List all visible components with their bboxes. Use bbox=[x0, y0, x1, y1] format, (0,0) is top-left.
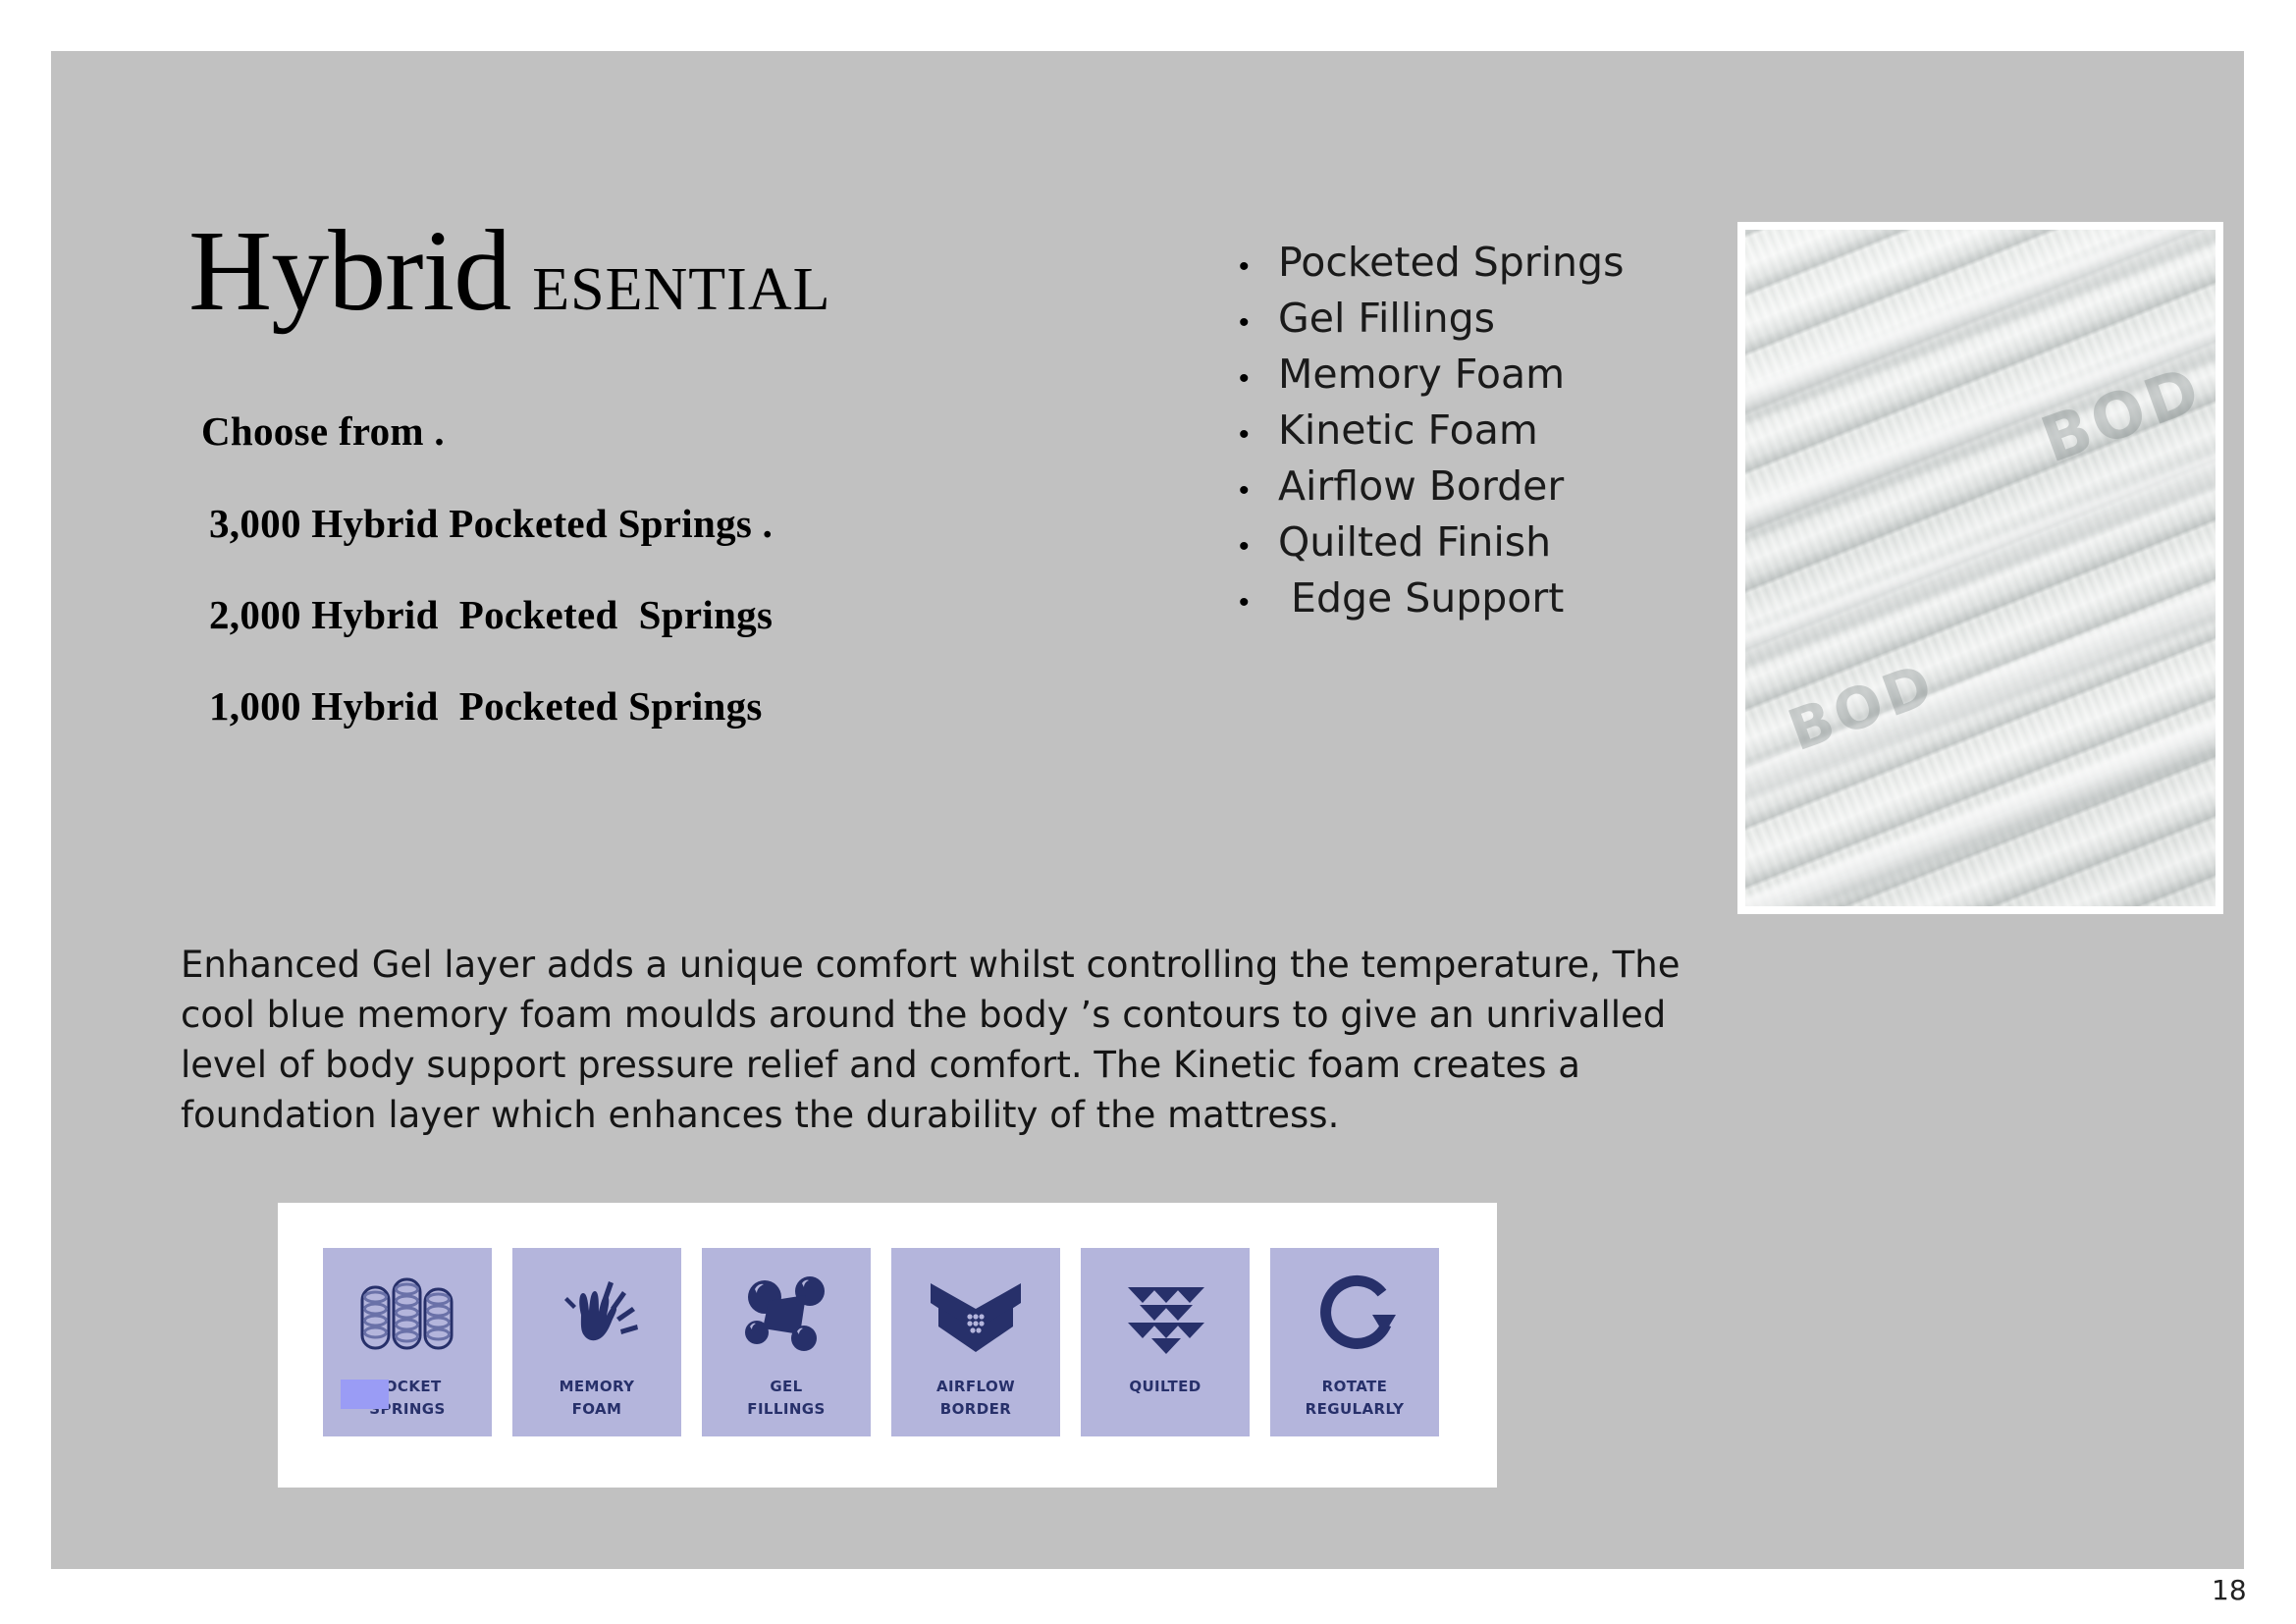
pocket-springs-icon bbox=[356, 1248, 458, 1376]
icon-caption: ROTATE REGULARLY bbox=[1306, 1376, 1405, 1422]
feature-list: • Pocketed Springs • Gel Fillings • Memo… bbox=[1229, 243, 1759, 634]
icon-tile-pocket-springs[interactable]: POCKET SPRINGS bbox=[323, 1248, 492, 1436]
icon-caption-line1: MEMORY bbox=[560, 1376, 635, 1398]
choose-from-lead: Choose from . bbox=[201, 407, 773, 455]
quilted-lattice-icon bbox=[1118, 1248, 1212, 1376]
feature-label: Kinetic Foam bbox=[1278, 410, 1538, 451]
title-main: Hybrid bbox=[188, 213, 510, 329]
feature-label: Memory Foam bbox=[1278, 354, 1565, 395]
icon-caption: GEL FILLINGS bbox=[747, 1376, 825, 1422]
list-item: • Quilted Finish bbox=[1229, 522, 1759, 578]
list-item: • Pocketed Springs bbox=[1229, 243, 1759, 298]
mattress-photo: BOD BOD bbox=[1745, 230, 2216, 906]
icon-tile-rotate-regularly[interactable]: ROTATE REGULARLY bbox=[1270, 1248, 1439, 1436]
list-item: • Edge Support bbox=[1229, 578, 1759, 634]
description-paragraph: Enhanced Gel layer adds a unique comfort… bbox=[181, 940, 1751, 1140]
feature-icon-strip: POCKET SPRINGS bbox=[278, 1203, 1497, 1488]
memory-foam-hand-icon bbox=[548, 1248, 646, 1376]
bullet-icon: • bbox=[1229, 476, 1278, 506]
spring-option-2000: 2,000 Hybrid Pocketed Springs bbox=[209, 591, 773, 638]
feature-label: Quilted Finish bbox=[1278, 522, 1551, 563]
choose-from-block: Choose from . 3,000 Hybrid Pocketed Spri… bbox=[201, 407, 773, 774]
icon-caption: AIRFLOW BORDER bbox=[936, 1376, 1015, 1422]
page-canvas: HybridESENTIAL Choose from . 3,000 Hybri… bbox=[0, 0, 2296, 1624]
bullet-icon: • bbox=[1229, 588, 1278, 618]
feature-label: Edge Support bbox=[1278, 578, 1564, 619]
icon-caption-line2: REGULARLY bbox=[1306, 1398, 1405, 1421]
list-item: • Gel Fillings bbox=[1229, 298, 1759, 354]
icon-tile-quilted[interactable]: QUILTED bbox=[1081, 1248, 1250, 1436]
rotate-arrow-icon bbox=[1309, 1248, 1400, 1376]
title-sub: ESENTIAL bbox=[532, 259, 830, 320]
list-item: • Memory Foam bbox=[1229, 354, 1759, 410]
blue-artifact-overlay bbox=[341, 1380, 389, 1409]
icon-caption-line2: FILLINGS bbox=[747, 1398, 825, 1421]
mattress-photo-frame: BOD BOD bbox=[1737, 222, 2223, 914]
feature-label: Airflow Border bbox=[1278, 466, 1564, 507]
bullet-icon: • bbox=[1229, 364, 1278, 394]
gel-molecule-icon bbox=[739, 1248, 833, 1376]
bullet-icon: • bbox=[1229, 252, 1278, 282]
page-number: 18 bbox=[2212, 1574, 2247, 1606]
feature-icon-row: POCKET SPRINGS bbox=[323, 1248, 1439, 1436]
feature-label: Gel Fillings bbox=[1278, 298, 1495, 339]
icon-caption-line2: FOAM bbox=[560, 1398, 635, 1421]
list-item: • Kinetic Foam bbox=[1229, 410, 1759, 466]
page-title: HybridESENTIAL bbox=[188, 213, 830, 329]
icon-caption-line1: GEL bbox=[747, 1376, 825, 1398]
icon-tile-gel-fillings[interactable]: GEL FILLINGS bbox=[702, 1248, 871, 1436]
icon-tile-airflow-border[interactable]: AIRFLOW BORDER bbox=[891, 1248, 1060, 1436]
icon-caption-line1: QUILTED bbox=[1129, 1376, 1201, 1398]
list-item: • Airflow Border bbox=[1229, 466, 1759, 522]
icon-caption-line1: AIRFLOW bbox=[936, 1376, 1015, 1398]
bullet-icon: • bbox=[1229, 420, 1278, 450]
bullet-icon: • bbox=[1229, 308, 1278, 338]
icon-caption-line2: BORDER bbox=[936, 1398, 1015, 1421]
icon-caption-line1: ROTATE bbox=[1306, 1376, 1405, 1398]
bullet-icon: • bbox=[1229, 532, 1278, 562]
paragraph-text: Enhanced Gel layer adds a unique comfort… bbox=[181, 940, 1751, 1140]
icon-caption: MEMORY FOAM bbox=[560, 1376, 635, 1422]
slide: HybridESENTIAL Choose from . 3,000 Hybri… bbox=[51, 51, 2244, 1569]
icon-caption: QUILTED bbox=[1129, 1376, 1201, 1398]
feature-label: Pocketed Springs bbox=[1278, 243, 1624, 283]
spring-option-1000: 1,000 Hybrid Pocketed Springs bbox=[209, 682, 773, 730]
airflow-chevron-icon bbox=[927, 1248, 1025, 1376]
icon-tile-memory-foam[interactable]: MEMORY FOAM bbox=[512, 1248, 681, 1436]
spring-option-3000: 3,000 Hybrid Pocketed Springs . bbox=[209, 500, 773, 547]
